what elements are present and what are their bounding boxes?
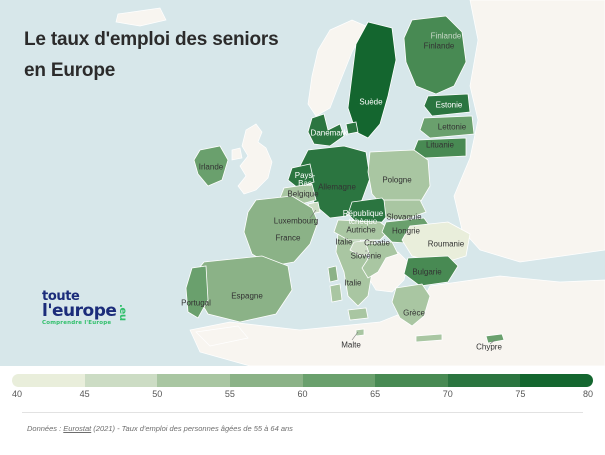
country-autriche xyxy=(334,220,390,240)
legend-segment-1 xyxy=(85,374,158,387)
legend-tick-45: 45 xyxy=(80,389,90,399)
logo-tld: .eu xyxy=(117,304,128,321)
logo-tagline: Comprendre l'Europe xyxy=(42,320,116,327)
legend-tick-labels: 404550556065707580 xyxy=(0,389,605,403)
country-danemark-2 xyxy=(346,122,358,134)
legend-tick-50: 50 xyxy=(152,389,162,399)
country-france-corse xyxy=(328,266,338,282)
legend-segment-2 xyxy=(157,374,230,387)
map-panel: Le taux d'emploi des seniors en Europe S… xyxy=(0,0,605,366)
country-estonie xyxy=(424,94,470,116)
country-lettonie xyxy=(420,116,474,138)
page-title: Le taux d'emploi des seniors en Europe xyxy=(24,24,354,86)
footnote: Données : Eurostat (2021) - Taux d'emplo… xyxy=(27,424,293,433)
legend-segment-5 xyxy=(375,374,448,387)
legend-segment-7 xyxy=(520,374,593,387)
legend-tick-60: 60 xyxy=(297,389,307,399)
logo-line2: l'europe xyxy=(42,303,116,319)
country-italie-sicile xyxy=(348,308,368,320)
legend-tick-55: 55 xyxy=(225,389,235,399)
legend-color-bar xyxy=(12,374,593,387)
country-lituanie xyxy=(414,138,466,158)
footnote-divider xyxy=(22,412,583,413)
legend-tick-65: 65 xyxy=(370,389,380,399)
country-italie-sardaigne xyxy=(330,284,342,302)
country-malte xyxy=(356,329,364,336)
infographic-root: Le taux d'emploi des seniors en Europe S… xyxy=(0,0,605,455)
legend-tick-80: 80 xyxy=(583,389,593,399)
legend-segment-0 xyxy=(12,374,85,387)
country-espagne xyxy=(194,256,292,322)
logo[interactable]: toute l'europe Comprendre l'Europe .eu xyxy=(42,291,116,327)
legend-segment-3 xyxy=(230,374,303,387)
footnote-prefix: Données : xyxy=(27,424,63,433)
legend-tick-40: 40 xyxy=(12,389,22,399)
legend-segment-6 xyxy=(448,374,521,387)
legend: 404550556065707580 xyxy=(0,366,605,408)
footnote-source-link[interactable]: Eurostat xyxy=(63,424,91,433)
legend-tick-70: 70 xyxy=(443,389,453,399)
legend-tick-75: 75 xyxy=(515,389,525,399)
legend-segment-4 xyxy=(303,374,376,387)
footnote-suffix: (2021) - Taux d'emploi des personnes âgé… xyxy=(91,424,293,433)
